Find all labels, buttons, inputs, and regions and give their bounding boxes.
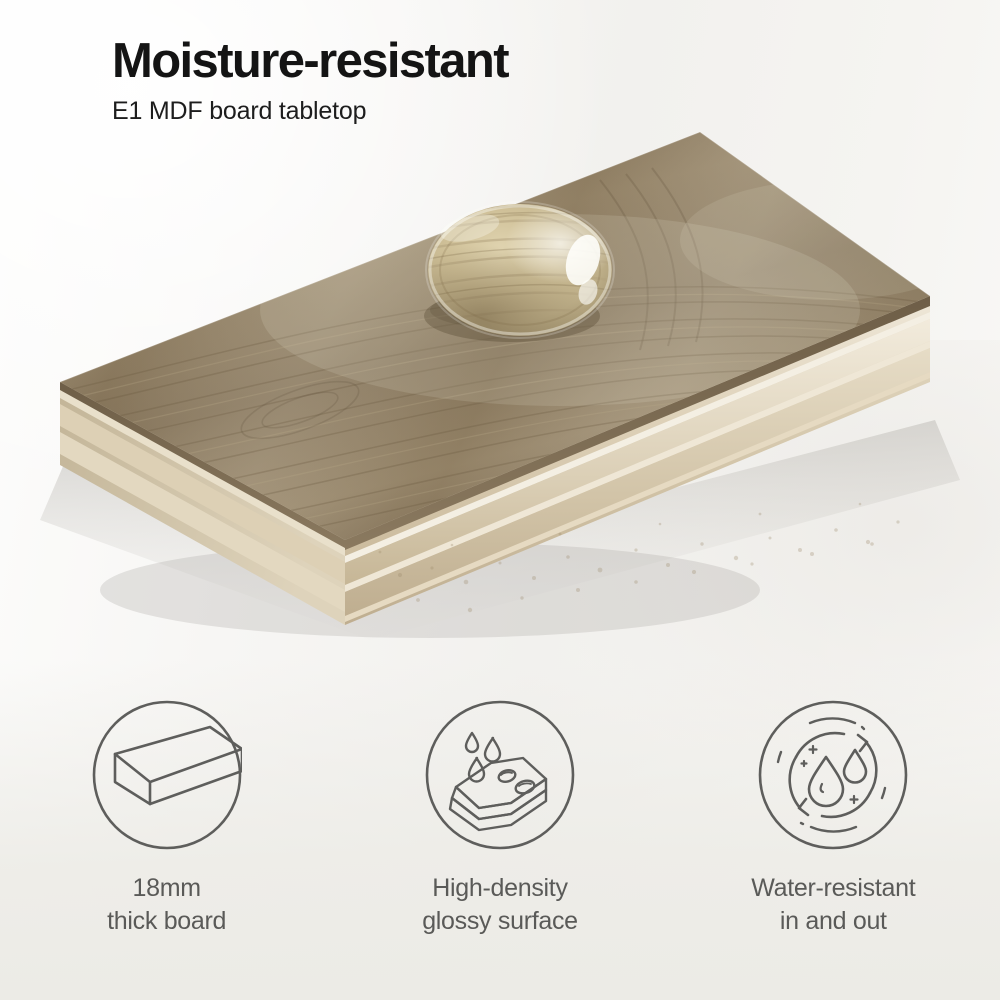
feature-caption: 18mm thick board [107,872,226,937]
board-thickness-icon [92,700,242,850]
feature-item: High-density glossy surface [333,700,666,980]
product-photo [0,120,1000,640]
headline-block: Moisture-resistant E1 MDF board tabletop [112,36,508,126]
feature-caption-line2: thick board [107,905,226,938]
feature-caption-line2: in and out [751,905,915,938]
feature-item: 18mm thick board [0,700,333,980]
page-title: Moisture-resistant [112,36,508,87]
feature-caption-line2: glossy surface [422,905,578,938]
feature-list: 18mm thick board [0,700,1000,980]
water-resistant-cycle-icon [758,700,908,850]
feature-item: Water-resistant in and out [667,700,1000,980]
feature-caption: Water-resistant in and out [751,872,915,937]
feature-caption-line1: High-density [432,874,567,902]
feature-caption-line1: 18mm [133,874,201,902]
layered-sheets-droplets-icon [425,700,575,850]
page-subtitle: E1 MDF board tabletop [112,98,508,126]
product-feature-banner: Moisture-resistant E1 MDF board tabletop [0,0,1000,1000]
feature-caption: High-density glossy surface [422,872,578,937]
feature-caption-line1: Water-resistant [751,874,915,902]
